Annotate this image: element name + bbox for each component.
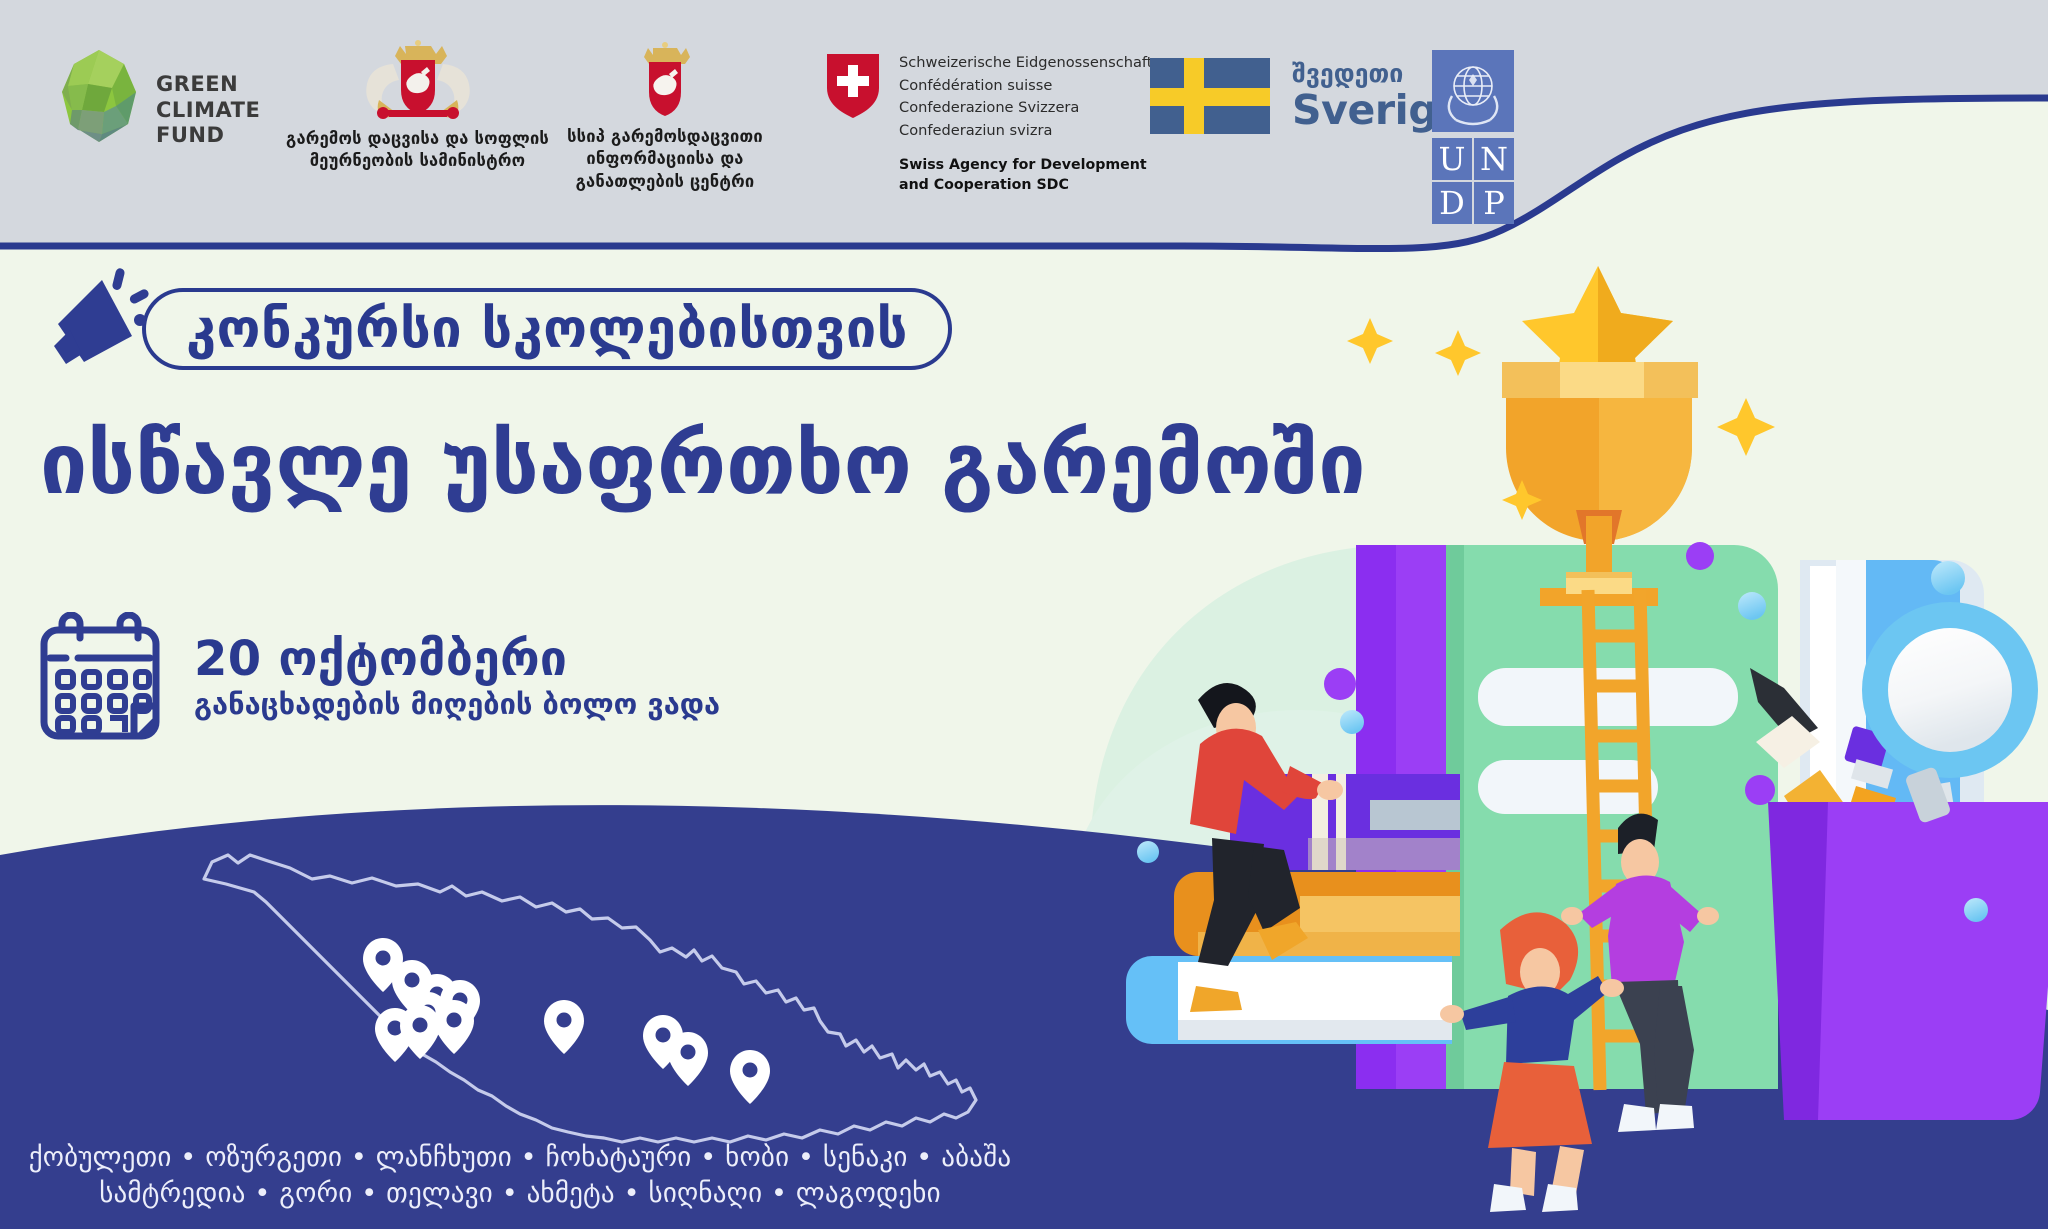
logo-green-climate-fund: GREEN CLIMATE FUND [58,44,260,149]
undp-letter-p: P [1474,182,1514,224]
megaphone-icon [40,262,160,372]
undp-letter-n: N [1474,138,1514,180]
city-list-line-1: ქობულეთი • ოზურგეთი • ლანჩხუთი • ჩოხატაუ… [0,1140,1040,1176]
page-title: ისწავლე უსაფრთხო გარემოში [40,420,1366,508]
city-list-line-2: სამტრედია • გორი • თელავი • ახმეტა • სიღ… [0,1176,1040,1212]
calendar-icon [36,612,164,744]
undp-letter-d: D [1432,182,1472,224]
georgia-coat-of-arms-icon [285,40,550,120]
sdc-agency-name: Swiss Agency for Development and Coopera… [899,156,1153,195]
location-pin-icon [434,1000,474,1054]
swedish-flag-icon [1150,58,1270,134]
partner-logo-bar: GREEN CLIMATE FUND [0,0,1560,200]
sdc-languages: Schweizerische Eidgenossenschaft Confédé… [899,52,1153,142]
deadline-block: 20 ოქტომბერი განაცხადების მიღების ბოლო ვ… [36,612,720,744]
location-pin-icon [400,1005,440,1059]
location-pin-icon [544,1000,584,1054]
logo-ministry-of-environment: გარემოს დაცვისა და სოფლის მეურნეობის სამ… [285,40,550,173]
un-emblem-icon [1432,50,1514,132]
gcf-gem-icon [58,48,140,144]
location-pin-icon [730,1050,770,1104]
georgia-small-coat-of-arms-icon [560,40,770,118]
logo-undp: U N D P [1432,50,1514,224]
logo-sweden: შვედეთი Sverige [1150,58,1465,134]
kicker-badge: კონკურსი სკოლებისთვის [142,288,952,370]
logo-swiss-sdc: Schweizerische Eidgenossenschaft Confédé… [825,52,1153,196]
eiec-name: სსიპ გარემოსდაცვითი ინფორმაციისა და განა… [560,126,770,193]
poster-canvas: GREEN CLIMATE FUND [0,0,2048,1229]
ministry-name: გარემოს დაცვისა და სოფლის მეურნეობის სამ… [285,128,550,173]
gcf-wordmark: GREEN CLIMATE FUND [156,44,260,149]
undp-letters: U N D P [1432,138,1514,224]
deadline-subtitle: განაცხადების მიღების ბოლო ვადა [194,687,720,722]
city-list: ქობულეთი • ოზურგეთი • ლანჩხუთი • ჩოხატაუ… [0,1140,1040,1213]
swiss-shield-icon [825,52,881,118]
logo-env-info-education-centre: სსიპ გარემოსდაცვითი ინფორმაციისა და განა… [560,40,770,193]
undp-letter-u: U [1432,138,1472,180]
deadline-date: 20 ოქტომბერი [194,634,720,684]
location-pin-icon [668,1032,708,1086]
kicker-text: კონკურსი სკოლებისთვის [186,302,908,356]
